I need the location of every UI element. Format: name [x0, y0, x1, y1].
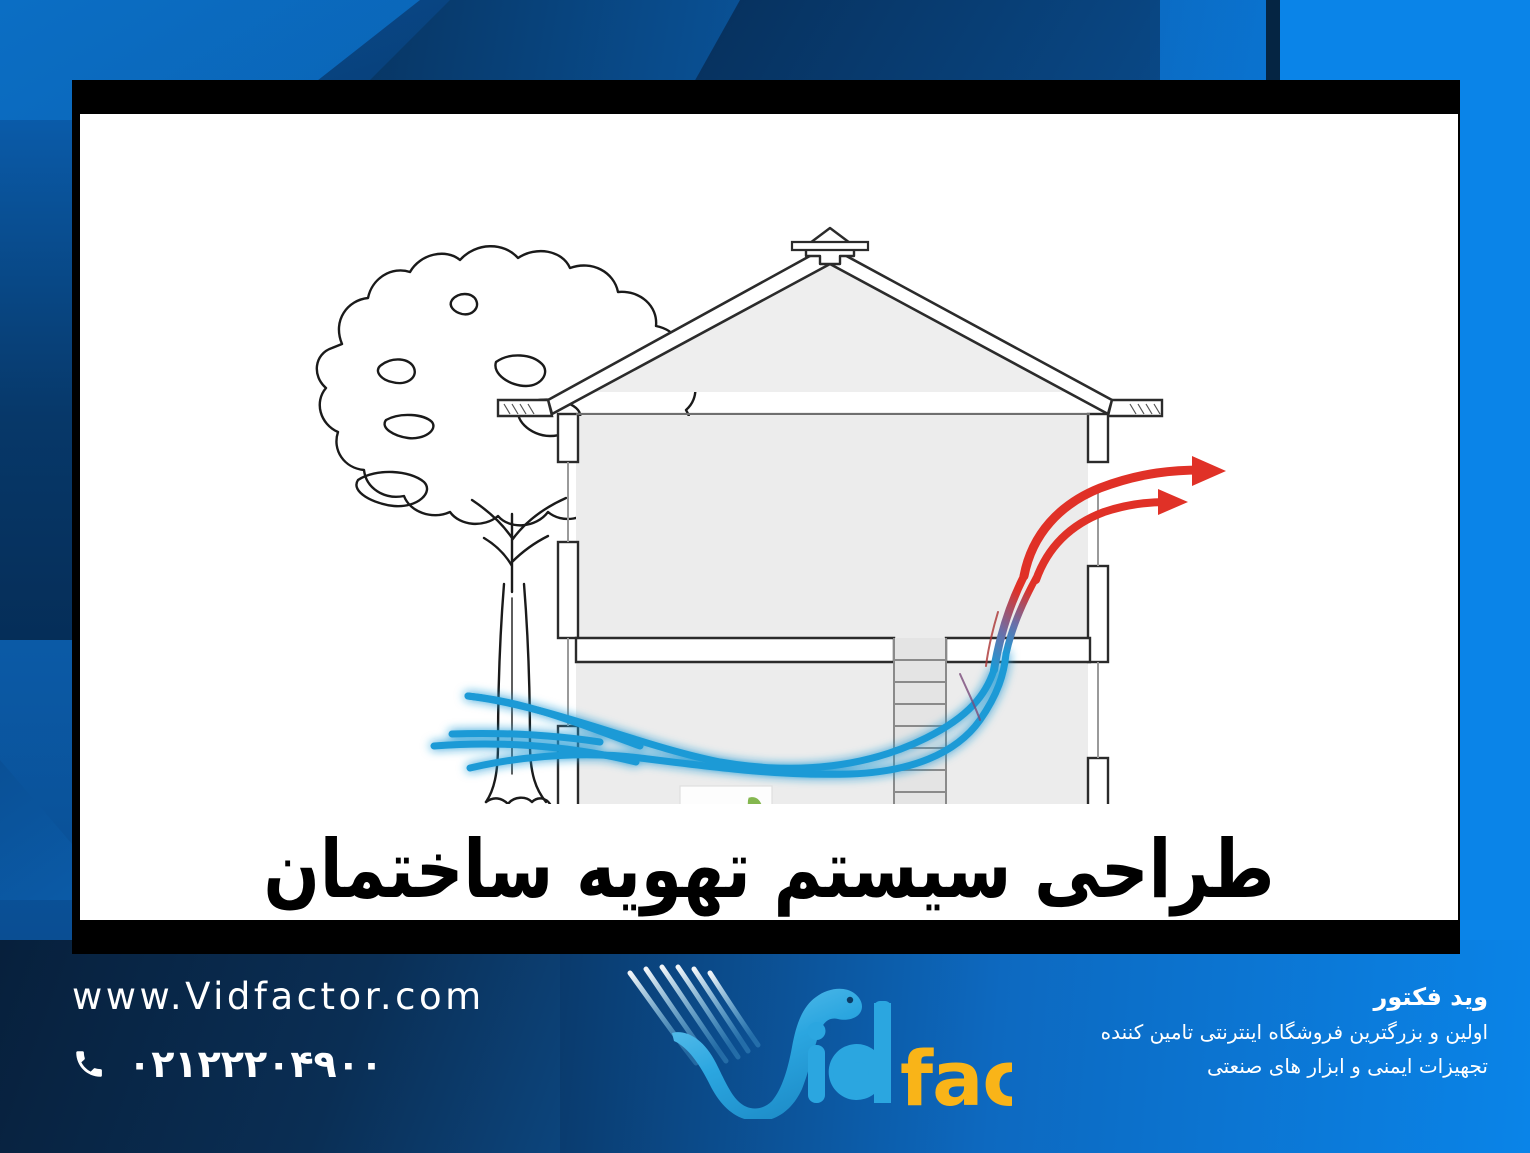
arrowhead-upper — [1192, 456, 1226, 486]
logo-text-factor: factor — [900, 1034, 1012, 1119]
staircase — [894, 638, 946, 804]
bird-mark-icon — [672, 989, 862, 1119]
footer-bar: www.Vidfactor.com ۰۲۱۲۲۲۰۴۹۰۰ — [0, 953, 1530, 1153]
arrowhead-lower — [1158, 489, 1188, 515]
phone-row[interactable]: ۰۲۱۲۲۲۰۴۹۰۰ — [72, 1042, 592, 1086]
website-url[interactable]: www.Vidfactor.com — [72, 975, 592, 1018]
phone-icon — [72, 1047, 106, 1081]
brand-name: وید فکتور — [1018, 981, 1488, 1013]
poster-root: رازینه مرجع تخصصی مقالات ساختمانی طراحی … — [0, 0, 1530, 1153]
phone-number: ۰۲۱۲۲۲۰۴۹۰۰ — [128, 1042, 383, 1086]
mid-floor-slab-right — [946, 638, 1090, 662]
poster-title: طراحی سیستم تهویه ساختمان — [80, 818, 1458, 922]
mid-floor-slab-left — [576, 638, 894, 662]
bird-eye-icon — [847, 997, 853, 1003]
footer-brand-block: وید فکتور اولین و بزرگترین فروشگاه اینتر… — [1018, 981, 1488, 1081]
vidfactor-logo[interactable]: factor — [612, 959, 1012, 1119]
ventilation-diagram: رازینه مرجع تخصصی مقالات ساختمانی — [80, 114, 1458, 804]
brand-tagline-line1: اولین و بزرگترین فروشگاه اینترنتی تامین … — [1018, 1017, 1488, 1047]
poster-title-text: طراحی سیستم تهویه ساختمان — [264, 830, 1275, 911]
brand-tagline-line2: تجهیزات ایمنی و ابزار های صنعتی — [1018, 1051, 1488, 1081]
footer-contact-block: www.Vidfactor.com ۰۲۱۲۲۲۰۴۹۰۰ — [72, 975, 592, 1086]
svg-text:factor: factor — [900, 1034, 1012, 1119]
